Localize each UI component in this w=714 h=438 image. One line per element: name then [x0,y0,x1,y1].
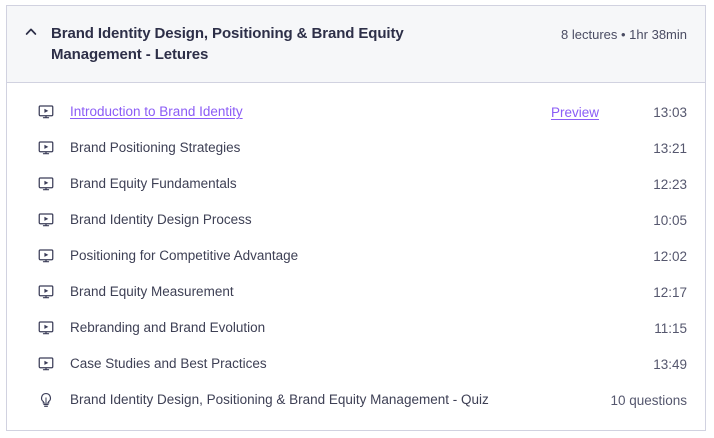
lecture-duration: 13:21 [637,141,687,156]
lecture-title: Brand Equity Measurement [70,283,637,301]
lecture-duration: 13:49 [637,357,687,372]
video-monitor-icon [36,174,56,194]
lecture-duration: 13:03 [637,105,687,120]
video-monitor-icon [36,354,56,374]
lecture-duration: 12:23 [637,177,687,192]
video-monitor-icon [36,282,56,302]
lecture-row[interactable]: Introduction to Brand IdentityPreview13:… [7,94,705,130]
video-monitor-icon [36,318,56,338]
lecture-title-link[interactable]: Introduction to Brand Identity [70,103,243,121]
lecture-row[interactable]: Brand Equity Measurement12:17 [7,274,705,310]
lecture-row[interactable]: Brand Identity Design Process10:05 [7,202,705,238]
section-meta: 8 lectures • 1hr 38min [561,22,687,45]
lecture-row[interactable]: Brand Identity Design, Positioning & Bra… [7,382,705,418]
lecture-row[interactable]: Brand Equity Fundamentals12:23 [7,166,705,202]
lecture-title: Brand Equity Fundamentals [70,175,637,193]
video-monitor-icon [36,246,56,266]
lecture-list: Introduction to Brand IdentityPreview13:… [7,83,705,430]
section-header[interactable]: Brand Identity Design, Positioning & Bra… [7,6,705,83]
chevron-up-icon[interactable] [25,22,51,38]
lecture-duration: 12:17 [637,285,687,300]
course-section-card: Brand Identity Design, Positioning & Bra… [6,5,706,431]
video-monitor-icon [36,210,56,230]
lecture-title: Rebranding and Brand Evolution [70,319,637,337]
lecture-title: Positioning for Competitive Advantage [70,247,637,265]
quiz-question-count: 10 questions [597,393,687,408]
lecture-title: Brand Positioning Strategies [70,139,637,157]
lecture-row[interactable]: Rebranding and Brand Evolution11:15 [7,310,705,346]
lecture-row[interactable]: Brand Positioning Strategies13:21 [7,130,705,166]
lecture-title: Case Studies and Best Practices [70,355,637,373]
lecture-duration: 12:02 [637,249,687,264]
section-title: Brand Identity Design, Positioning & Bra… [51,22,481,65]
lecture-row[interactable]: Case Studies and Best Practices13:49 [7,346,705,382]
video-monitor-icon [36,102,56,122]
lightbulb-icon [36,390,56,410]
lecture-duration: 11:15 [637,321,687,336]
preview-link[interactable]: Preview [551,105,599,120]
lecture-duration: 10:05 [637,213,687,228]
lecture-title: Brand Identity Design Process [70,211,637,229]
lecture-row[interactable]: Positioning for Competitive Advantage12:… [7,238,705,274]
lecture-title: Brand Identity Design, Positioning & Bra… [70,391,597,409]
video-monitor-icon [36,138,56,158]
